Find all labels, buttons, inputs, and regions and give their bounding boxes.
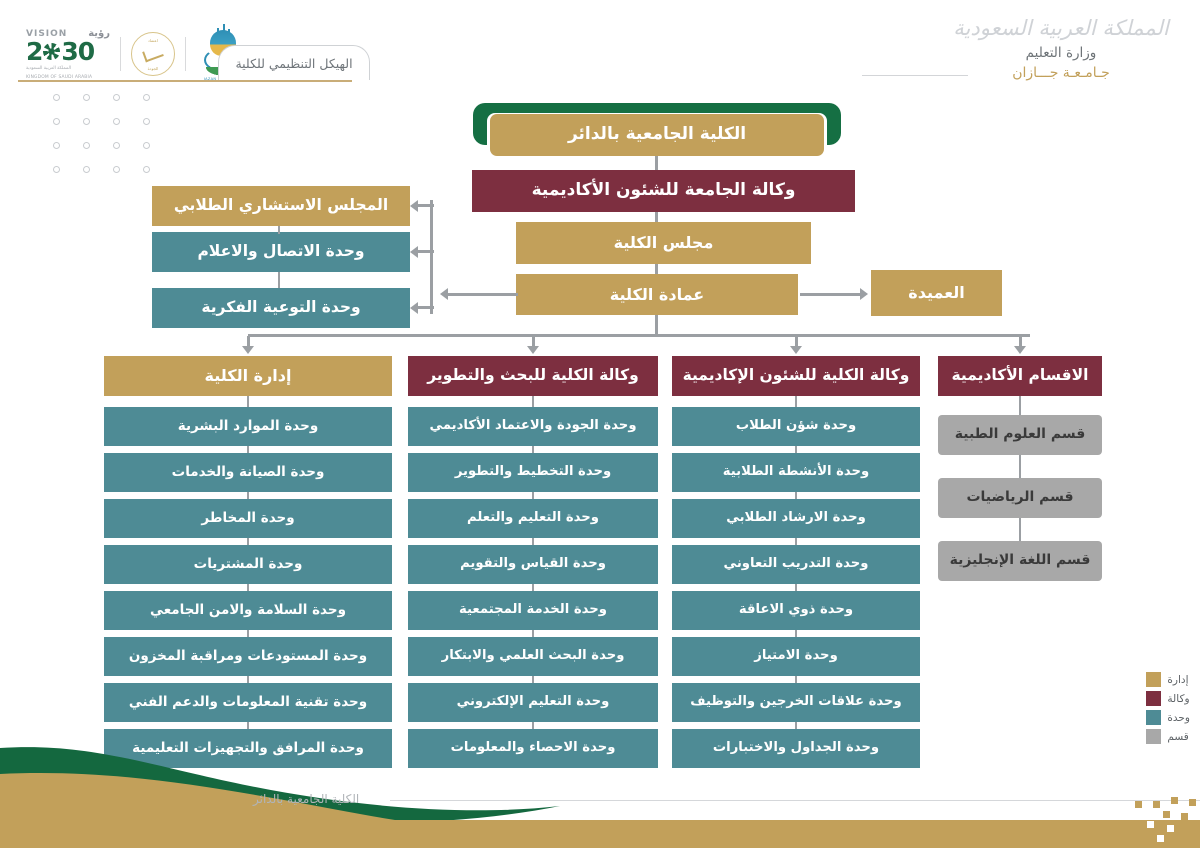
column-4-item-3[interactable]: قسم اللغة الإنجليزية (938, 541, 1102, 581)
column-header-3[interactable]: وكالة الكلية للشئون الإكاديمية (672, 356, 920, 396)
dot (113, 118, 120, 125)
legend-item-qism: قسم (1146, 729, 1190, 744)
dot (113, 142, 120, 149)
legend-swatch-qism (1146, 729, 1161, 744)
header-logos: VISION رؤية 2 30 المملكة العربية السعودي… (26, 28, 250, 80)
node-label: وحدة المشتريات (194, 557, 303, 572)
arrow-to-column-header-4 (1014, 346, 1026, 354)
node-intellectual-awareness-unit[interactable]: وحدة التوعية الفكرية (152, 288, 410, 328)
left-branch-vertical-inner (278, 226, 280, 234)
node-college[interactable]: الكلية الجامعية بالدائر (490, 114, 824, 156)
pixel (1171, 797, 1178, 804)
dot (143, 142, 150, 149)
node-label: وحدة الجداول والاختبارات (713, 741, 879, 756)
column-3-item-8[interactable]: وحدة الجداول والاختبارات (672, 729, 920, 768)
vision-knot-icon (43, 43, 60, 60)
column-3-item-2[interactable]: وحدة الأنشطة الطلابية (672, 453, 920, 492)
column-4-item-2[interactable]: قسم الرياضيات (938, 478, 1102, 518)
column-3-item-5[interactable]: وحدة ذوي الاعاقة (672, 591, 920, 630)
header-divider-2 (185, 37, 186, 71)
node-student-advisory-council[interactable]: المجلس الاستشاري الطلابي (152, 186, 410, 226)
left-branch-vertical-inner-2 (278, 272, 280, 288)
pixel (1163, 811, 1170, 818)
column-1-item-4[interactable]: وحدة المشتريات (104, 545, 392, 584)
node-label: وكالة الكلية للشئون الإكاديمية (683, 367, 910, 384)
pixel (1167, 825, 1174, 832)
node-label: وحدة ذوي الاعاقة (739, 603, 853, 618)
connector-deanship-left (446, 293, 518, 296)
node-label: وحدة الامتياز (754, 649, 838, 664)
node-label: وحدة الصيانة والخدمات (172, 465, 325, 480)
pixel-decoration (1080, 790, 1200, 848)
pixel (1157, 835, 1164, 842)
legend-label: وحدة (1167, 712, 1190, 724)
node-label: وحدة التعليم والتعلم (467, 511, 599, 526)
pixel (1181, 813, 1188, 820)
pixel (1153, 801, 1160, 808)
dot (113, 94, 120, 101)
node-label: الاقسام الأكاديمية (952, 367, 1089, 384)
seal-top-text: اعتماد (132, 38, 174, 43)
dot (143, 118, 150, 125)
dot (53, 166, 60, 173)
arrow-deanship-left (440, 288, 448, 300)
node-label: قسم اللغة الإنجليزية (950, 553, 1091, 569)
dot (83, 166, 90, 173)
org-chart-page: VISION رؤية 2 30 المملكة العربية السعودي… (0, 0, 1200, 848)
university-name: جـامـعـة جـــازان (946, 65, 1176, 81)
node-label: وحدة التدريب التعاوني (724, 557, 869, 572)
column-3-item-1[interactable]: وحدة شؤن الطلاب (672, 407, 920, 446)
dot (83, 118, 90, 125)
vision-number-right: 30 (61, 39, 94, 64)
node-label: قسم العلوم الطبية (955, 427, 1085, 443)
legend-label: وكالة (1167, 693, 1189, 705)
pixel (1177, 835, 1184, 842)
node-label: وحدة الارشاد الطلابي (726, 511, 866, 526)
node-college-council[interactable]: مجلس الكلية (516, 222, 811, 264)
dot (83, 94, 90, 101)
dot (143, 94, 150, 101)
connector-deanship-to-dean (800, 293, 862, 296)
column-1-item-5[interactable]: وحدة السلامة والامن الجامعي (104, 591, 392, 630)
dot (53, 142, 60, 149)
node-communication-media-unit[interactable]: وحدة الاتصال والاعلام (152, 232, 410, 272)
vision-subtitle-ar: المملكة العربية السعودية (26, 66, 110, 73)
node-label: وحدة القياس والتقويم (460, 557, 606, 572)
pixel (1187, 823, 1194, 830)
node-label: وحدة الاحصاء والمعلومات (451, 741, 616, 756)
ministry-name: وزارة التعليم (946, 45, 1176, 61)
ministry-identity-block: المملكة العربية السعودية وزارة التعليم ج… (946, 18, 1176, 81)
legend-item-idara: إدارة (1146, 672, 1190, 687)
node-label: وحدة المخاطر (201, 511, 294, 526)
arrow-to-advisory-council (410, 200, 418, 212)
column-3-item-6[interactable]: وحدة الامتياز (672, 637, 920, 676)
connector-deanship-to-bus (655, 315, 658, 335)
column-1-item-1[interactable]: وحدة الموارد البشرية (104, 407, 392, 446)
column-1-item-2[interactable]: وحدة الصيانة والخدمات (104, 453, 392, 492)
node-label: وكالة الجامعة للشئون الأكاديمية (532, 181, 796, 200)
column-4-item-1[interactable]: قسم العلوم الطبية (938, 415, 1102, 455)
header-right-rule (862, 75, 968, 76)
legend-item-wahda: وحدة (1146, 710, 1190, 725)
column-1-item-6[interactable]: وحدة المستودعات ومراقبة المخزون (104, 637, 392, 676)
node-label: وحدة الأنشطة الطلابية (723, 465, 870, 480)
node-deanship[interactable]: عمادة الكلية (516, 274, 798, 315)
arrow-to-dean (860, 288, 868, 300)
legend-swatch-wahda (1146, 710, 1161, 725)
kingdom-calligraphy: المملكة العربية السعودية (946, 18, 1176, 39)
column-header-4[interactable]: الاقسام الأكاديمية (938, 356, 1102, 396)
pixel (1189, 799, 1196, 806)
connector-college-to-vice (655, 156, 658, 171)
column-2-item-4[interactable]: وحدة القياس والتقويم (408, 545, 658, 584)
column-2-item-8[interactable]: وحدة الاحصاء والمعلومات (408, 729, 658, 768)
legend-label: قسم (1167, 731, 1188, 743)
node-label: وحدة الجودة والاعتماد الأكاديمي (429, 419, 636, 434)
vision-2030-logo: VISION رؤية 2 30 المملكة العربية السعودي… (26, 28, 110, 80)
node-label: المجلس الاستشاري الطلابي (174, 197, 388, 214)
legend: إدارة وكالة وحدة قسم (1146, 672, 1190, 744)
column-3-item-7[interactable]: وحدة علاقات الخرجين والتوظيف (672, 683, 920, 722)
dot (113, 166, 120, 173)
node-label: الكلية الجامعية بالدائر (568, 125, 746, 144)
arrow-to-column-header-1 (242, 346, 254, 354)
node-label: وحدة التخطيط والتطوير (455, 465, 611, 480)
left-branch-bus (430, 200, 433, 314)
legend-label: إدارة (1167, 674, 1188, 686)
pixel (1135, 801, 1142, 808)
node-label: وحدة الموارد البشرية (178, 419, 318, 434)
legend-item-wakala: وكالة (1146, 691, 1190, 706)
column-header-2[interactable]: وكالة الكلية للبحث والتطوير (408, 356, 658, 396)
connector-vice-to-council (655, 212, 658, 222)
page-title: الهيكل التنظيمي للكلية (235, 56, 352, 71)
node-label: وحدة التوعية الفكرية (201, 299, 360, 316)
title-underline (18, 80, 352, 82)
node-label: وحدة السلامة والامن الجامعي (150, 603, 346, 618)
column-2-item-5[interactable]: وحدة الخدمة المجتمعية (408, 591, 658, 630)
quality-accreditation-seal-icon: اعتماد الجودة (131, 32, 175, 76)
footer-rule (390, 800, 1200, 801)
node-vice-university[interactable]: وكالة الجامعة للشئون الأكاديمية (472, 170, 855, 212)
column-1-item-7[interactable]: وحدة تقنية المعلومات والدعم الفني (104, 683, 392, 722)
column-1-item-8[interactable]: وحدة المرافق والتجهيزات التعليمية (104, 729, 392, 768)
main-distribution-bus (248, 334, 1030, 337)
dot (143, 166, 150, 173)
node-label: وحدة الاتصال والاعلام (197, 243, 364, 260)
dot (53, 94, 60, 101)
page-title-tab: الهيكل التنظيمي للكلية (218, 45, 370, 80)
dot (83, 142, 90, 149)
node-label: وحدة الخدمة المجتمعية (459, 603, 607, 618)
node-label: وحدة شؤن الطلاب (736, 419, 856, 434)
node-label: وحدة البحث العلمي والابتكار (442, 649, 625, 664)
footer-caption: الكلية الجامعية بالدائر (253, 792, 359, 806)
arrow-to-awareness-unit (410, 302, 418, 314)
column-2-item-7[interactable]: وحدة التعليم الإلكتروني (408, 683, 658, 722)
vision-number-left: 2 (26, 39, 42, 64)
column-3-item-3[interactable]: وحدة الارشاد الطلابي (672, 499, 920, 538)
connector-awareness-arrow-line (418, 306, 434, 309)
node-label: قسم الرياضيات (966, 490, 1073, 506)
connector-council-to-deanship (655, 264, 658, 274)
arrow-to-column-header-2 (527, 346, 539, 354)
node-label: وكالة الكلية للبحث والتطوير (427, 367, 639, 384)
node-label: وحدة المستودعات ومراقبة المخزون (129, 649, 367, 664)
connector-advisory-arrow-line (418, 204, 434, 207)
dot (53, 118, 60, 125)
column-3-item-4[interactable]: وحدة التدريب التعاوني (672, 545, 920, 584)
node-label: وحدة تقنية المعلومات والدعم الفني (129, 695, 367, 710)
column-2-item-3[interactable]: وحدة التعليم والتعلم (408, 499, 658, 538)
decorative-dot-grid (30, 94, 150, 190)
node-dean[interactable]: العميدة (871, 270, 1002, 316)
legend-swatch-idara (1146, 672, 1161, 687)
seal-bottom-text: الجودة (132, 66, 174, 71)
node-label: العميدة (908, 284, 964, 302)
legend-swatch-wakala (1146, 691, 1161, 706)
node-label: وحدة علاقات الخرجين والتوظيف (690, 695, 902, 710)
column-header-1[interactable]: إدارة الكلية (104, 356, 392, 396)
connector-media-arrow-line (418, 250, 434, 253)
column-2-item-6[interactable]: وحدة البحث العلمي والابتكار (408, 637, 658, 676)
arrow-to-media-unit (410, 246, 418, 258)
column-1-item-3[interactable]: وحدة المخاطر (104, 499, 392, 538)
node-label: وحدة التعليم الإلكتروني (457, 695, 610, 710)
pixel (1147, 821, 1154, 828)
arrow-to-column-header-3 (790, 346, 802, 354)
node-label: مجلس الكلية (614, 234, 714, 252)
node-label: عمادة الكلية (610, 286, 704, 304)
node-label: إدارة الكلية (205, 367, 292, 385)
node-label: وحدة المرافق والتجهيزات التعليمية (132, 741, 364, 756)
header-divider-1 (120, 37, 121, 71)
column-2-item-1[interactable]: وحدة الجودة والاعتماد الأكاديمي (408, 407, 658, 446)
column-2-item-2[interactable]: وحدة التخطيط والتطوير (408, 453, 658, 492)
